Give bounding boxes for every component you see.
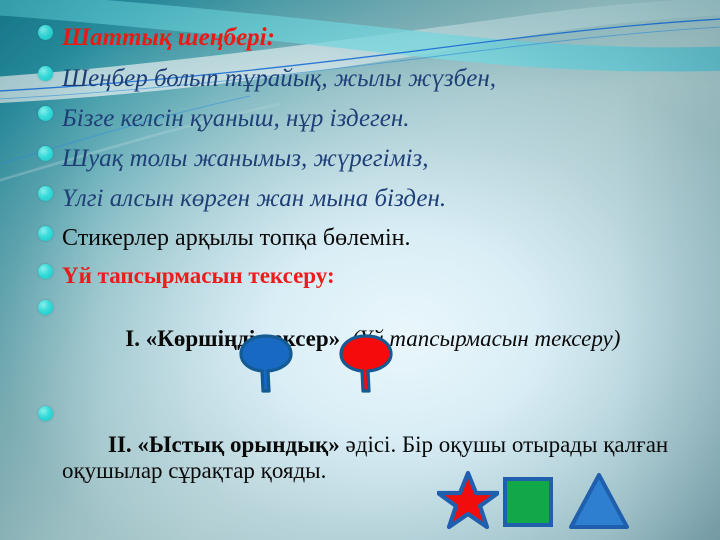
line-text: Стикерлер арқылы топқа бөлемін. bbox=[62, 226, 410, 250]
star-shape-red bbox=[437, 470, 499, 532]
bullet-line-uy-tapsyrmasyn: Үй тапсырмасын тексеру: bbox=[38, 264, 335, 287]
bullet-line-stikerler: Стикерлер арқылы топқа бөлемін. bbox=[38, 226, 410, 250]
balloon-pin-red bbox=[338, 333, 394, 395]
line-text: Шаттық шеңбері: bbox=[62, 25, 275, 50]
line-text: Үй тапсырмасын тексеру: bbox=[62, 264, 335, 287]
square-shape-green bbox=[502, 476, 554, 528]
bullet-dot-icon bbox=[38, 66, 53, 81]
bullet-line-bizge-kelsin: Бізге келсін қуаныш, нұр іздеген. bbox=[38, 106, 410, 131]
line-part-bold: I. «Көршіңді тексер» bbox=[108, 326, 340, 351]
line-part-bold: II. «Ыстық орындық» bbox=[108, 432, 340, 457]
bullet-line-ulgi-alsyn: Үлгі алсын көрген жан мына бізден. bbox=[38, 186, 446, 211]
presentation-slide: Шаттық шеңбері: Шеңбер болып тұрайық, жы… bbox=[0, 0, 720, 540]
bullet-dot-icon bbox=[38, 186, 53, 201]
bullet-dot-icon bbox=[38, 300, 53, 315]
bullet-line-shattyq-shenberi: Шаттық шеңбері: bbox=[38, 25, 275, 50]
bullet-dot-icon bbox=[38, 406, 53, 421]
bullet-dot-icon bbox=[38, 264, 53, 279]
bullet-dot-icon bbox=[38, 226, 53, 241]
line-text: Бізге келсін қуаныш, нұр іздеген. bbox=[62, 106, 410, 131]
line-text: Шеңбер болып тұрайық, жылы жүзбен, bbox=[62, 66, 496, 91]
line-text: Үлгі алсын көрген жан мына бізден. bbox=[62, 186, 446, 211]
bullet-line-shuaq-toly: Шуақ толы жанымыз, жүрегіміз, bbox=[38, 146, 428, 171]
bullet-dot-icon bbox=[38, 25, 53, 40]
bullet-line-shenber-bolyp: Шеңбер болып тұрайық, жылы жүзбен, bbox=[38, 66, 496, 91]
bullet-dot-icon bbox=[38, 106, 53, 121]
triangle-shape-blue bbox=[568, 472, 630, 530]
line-text: Шуақ толы жанымыз, жүрегіміз, bbox=[62, 146, 428, 171]
bullet-dot-icon bbox=[38, 146, 53, 161]
balloon-pin-blue bbox=[238, 333, 294, 395]
